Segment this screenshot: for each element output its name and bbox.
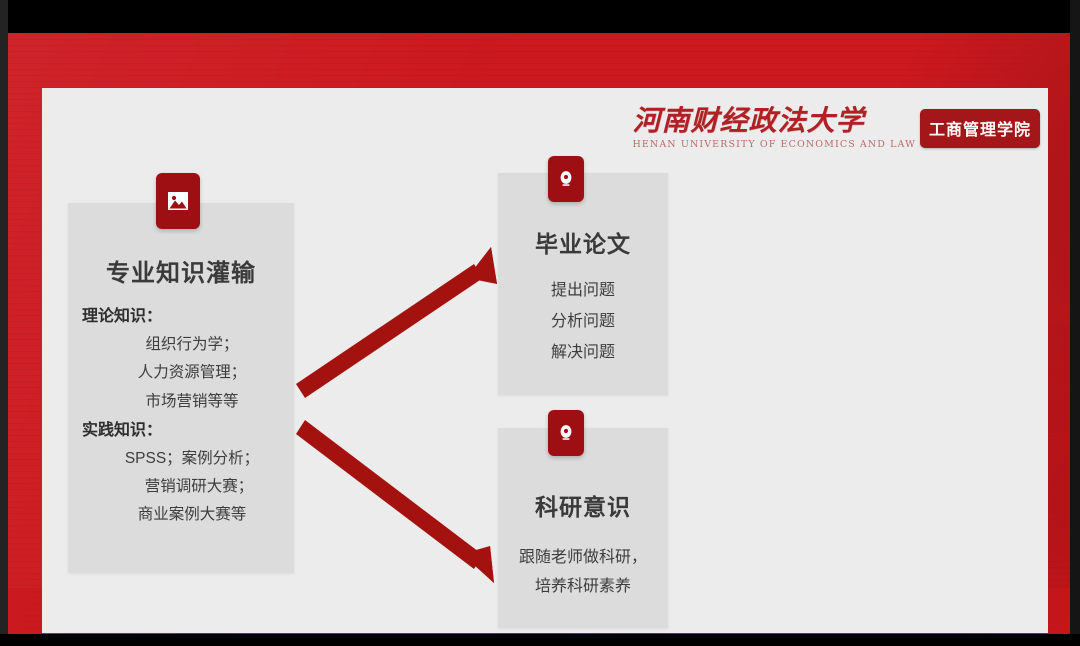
list-item: 人力资源管理； <box>82 359 286 387</box>
logo-text-block: 河南财经政法大学 HENAN UNIVERSITY OF ECONOMICS A… <box>633 106 916 149</box>
card-research-awareness[interactable]: 科研意识 跟随老师做科研， 培养科研素养 <box>498 428 668 628</box>
section-label-practice: 实践知识： <box>82 416 286 445</box>
list-item: 解决问题 <box>498 337 668 368</box>
card-thesis-body: 提出问题 分析问题 解决问题 <box>498 275 668 369</box>
card-left-title: 专业知识灌输 <box>68 253 294 288</box>
letterbox-top <box>0 0 1080 33</box>
university-logo: 河南财经政法大学 HENAN UNIVERSITY OF ECONOMICS A… <box>720 97 1040 159</box>
list-item: 商业案例大赛等 <box>82 501 286 529</box>
list-item: SPSS；案例分析； <box>82 445 286 473</box>
letterbox-bottom <box>0 634 1080 646</box>
letterbox-right <box>1070 0 1080 646</box>
letterbox-left <box>0 0 8 646</box>
list-item: 培养科研素养 <box>498 573 668 602</box>
card-research-body: 跟随老师做科研， 培养科研素养 <box>498 544 668 602</box>
arrow-to-research <box>296 420 494 583</box>
location-pin-icon-badge-research <box>548 410 584 456</box>
list-item: 提出问题 <box>498 275 668 306</box>
list-item: 市场营销等等 <box>82 388 286 416</box>
card-research-title: 科研意识 <box>498 488 668 522</box>
list-item: 分析问题 <box>498 306 668 337</box>
section-label-theory: 理论知识： <box>82 302 286 331</box>
red-decorative-frame: 河南财经政法大学 HENAN UNIVERSITY OF ECONOMICS A… <box>8 33 1070 634</box>
list-item: 营销调研大赛； <box>82 473 286 501</box>
list-item: 组织行为学； <box>82 331 286 359</box>
school-badge: 工商管理学院 <box>920 109 1040 148</box>
slide-canvas: 河南财经政法大学 HENAN UNIVERSITY OF ECONOMICS A… <box>42 88 1048 633</box>
location-pin-icon-badge-thesis <box>548 156 584 202</box>
university-name-en: HENAN UNIVERSITY OF ECONOMICS AND LAW <box>633 139 916 150</box>
location-pin-icon <box>558 423 574 443</box>
image-icon-badge <box>156 173 200 229</box>
university-name-cn: 河南财经政法大学 <box>633 106 865 135</box>
image-icon <box>167 191 189 211</box>
slide-root: 河南财经政法大学 HENAN UNIVERSITY OF ECONOMICS A… <box>0 0 1080 646</box>
card-professional-knowledge[interactable]: 专业知识灌输 理论知识： 组织行为学； 人力资源管理； 市场营销等等 实践知识：… <box>68 203 294 573</box>
card-left-body: 理论知识： 组织行为学； 人力资源管理； 市场营销等等 实践知识： SPSS；案… <box>68 302 294 529</box>
location-pin-icon <box>558 169 574 189</box>
card-thesis-title: 毕业论文 <box>498 225 668 259</box>
list-item: 跟随老师做科研， <box>498 544 668 573</box>
arrow-to-thesis <box>296 247 497 398</box>
card-graduation-thesis[interactable]: 毕业论文 提出问题 分析问题 解决问题 <box>498 173 668 395</box>
